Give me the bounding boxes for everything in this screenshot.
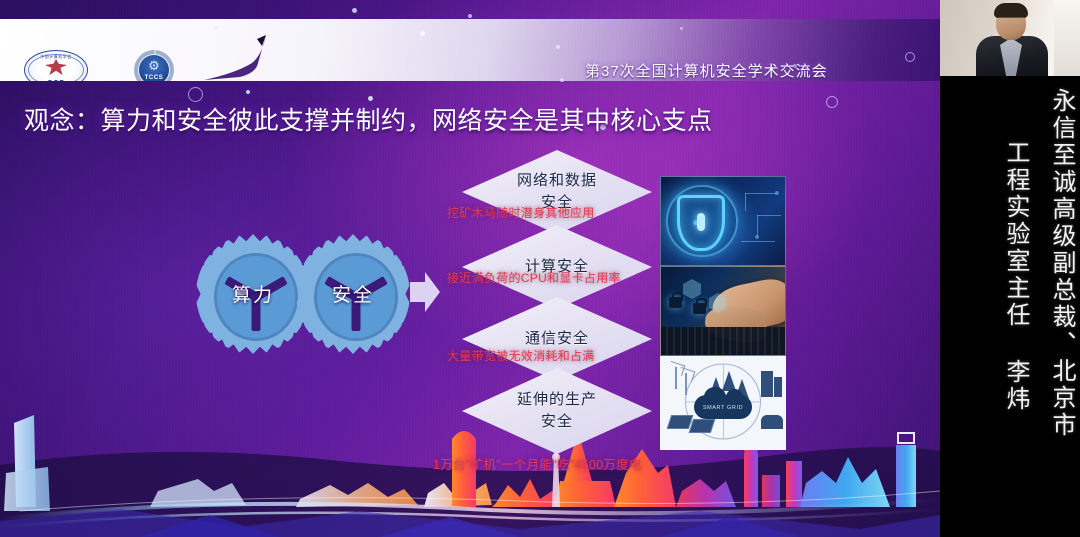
sparkle-ring: [905, 52, 915, 62]
header-sparkle: [420, 31, 425, 36]
right-arrow-icon: [410, 270, 440, 314]
solar-panel-icon: [667, 415, 694, 429]
wind-turbine-icon: [675, 367, 677, 389]
gear-pair-diagram: 算力 安全: [196, 234, 410, 358]
sparkle-dot: [215, 26, 218, 29]
slide-heading: 观念：算力和安全彼此支撑并制约，网络安全是其中核心支点: [24, 101, 713, 137]
header-sparkle: [680, 27, 683, 30]
diamond-computing-security: 计算安全: [462, 225, 652, 309]
tccs-logo: ⚙ TCCS: [134, 50, 174, 81]
smart-grid-label: SMART GRID: [703, 405, 743, 411]
sparkle-dot: [468, 14, 472, 18]
slide-footnote: 1万台"矿机"一个月能"吃"4500万度电: [433, 454, 642, 473]
gear-label: 安全: [296, 280, 410, 307]
tccs-logo-text: TCCS: [139, 75, 169, 81]
gear-security: 安全: [296, 234, 410, 354]
screen-capture: 中国计算机学会 CCF ⚙ TCCS 第37次全国计算机安全学术交流会 观念：算…: [0, 0, 1080, 537]
lock-icon: [669, 297, 682, 308]
solar-panel-icon: [689, 419, 716, 433]
header-sparkle: [556, 45, 560, 49]
speaker-title-line-2: 工程实验室主任 李炜: [1002, 140, 1028, 413]
diamond-note-communication: 大量带宽被无效消耗和占满: [447, 347, 595, 364]
conference-title: 第37次全国计算机安全学术交流会: [585, 60, 828, 81]
speaker-side-panel: 永信至诚高级副总裁、北京市 工程实验室主任 李炜: [940, 0, 1080, 537]
gear-label: 算力: [196, 280, 310, 307]
sparkle-dot: [560, 78, 564, 82]
shield-icon: [677, 195, 725, 251]
speaker-webcam-feed[interactable]: [940, 0, 1080, 76]
tccs-logo-glyph: ⚙: [148, 58, 160, 74]
header-swoosh-pointer: [200, 33, 270, 81]
circuit-trace: [745, 193, 777, 194]
keyboard-graphic: [661, 327, 785, 355]
diamond-label: 延伸的生产 安全: [517, 389, 597, 433]
tccs-logo-disc: ⚙ TCCS: [138, 54, 170, 81]
circuit-trace: [757, 215, 758, 237]
hex-node-icon: [683, 279, 701, 299]
circuit-node: [755, 235, 759, 239]
diamond-label-line1: 网络和数据: [517, 172, 597, 189]
circuit-trace: [757, 215, 781, 216]
speaker-title-line-1: 永信至诚高级副总裁、北京市: [1048, 88, 1074, 439]
lock-icon: [693, 303, 706, 314]
wind-turbine-icon: [685, 373, 687, 395]
building-icon: [761, 371, 773, 397]
smart-grid-photo: SMART GRID: [660, 356, 786, 450]
diamond-network-data-security: 网络和数据 安全: [462, 150, 652, 234]
slide-header-bar: 中国计算机学会 CCF ⚙ TCCS 第37次全国计算机安全学术交流会: [0, 19, 940, 81]
ccf-logo-text: CCF: [25, 80, 87, 81]
factory-icon: [761, 415, 783, 429]
circuit-trace: [745, 193, 746, 211]
speaker-hair: [994, 3, 1028, 18]
diamond-label-line1: 通信安全: [525, 330, 589, 347]
diamond-label-line2: 安全: [541, 413, 573, 430]
keyboard-lock-photo: [660, 266, 786, 356]
webcam-background-wall: [1054, 0, 1080, 76]
diamond-note-network-data: 挖矿木马随时潜身其他应用: [447, 204, 595, 221]
circuit-trace: [741, 241, 775, 242]
speaker-glasses: [998, 17, 1024, 25]
building-icon: [774, 377, 782, 397]
ccf-logo: 中国计算机学会 CCF: [24, 50, 88, 81]
sparkle-dot: [246, 90, 250, 94]
diamond-label-line1: 延伸的生产: [517, 391, 597, 408]
gear-computing-power: 算力: [196, 234, 310, 354]
circuit-node: [775, 191, 779, 195]
sparkle-dot: [352, 8, 357, 13]
diamond-note-computing: 接近满负荷的CPU和显卡占用率: [447, 269, 621, 286]
sparkle-ring: [826, 96, 838, 108]
presentation-slide: 中国计算机学会 CCF ⚙ TCCS 第37次全国计算机安全学术交流会 观念：算…: [0, 0, 940, 537]
cyber-shield-photo: [660, 176, 786, 266]
sparkle-ring: [188, 87, 203, 102]
